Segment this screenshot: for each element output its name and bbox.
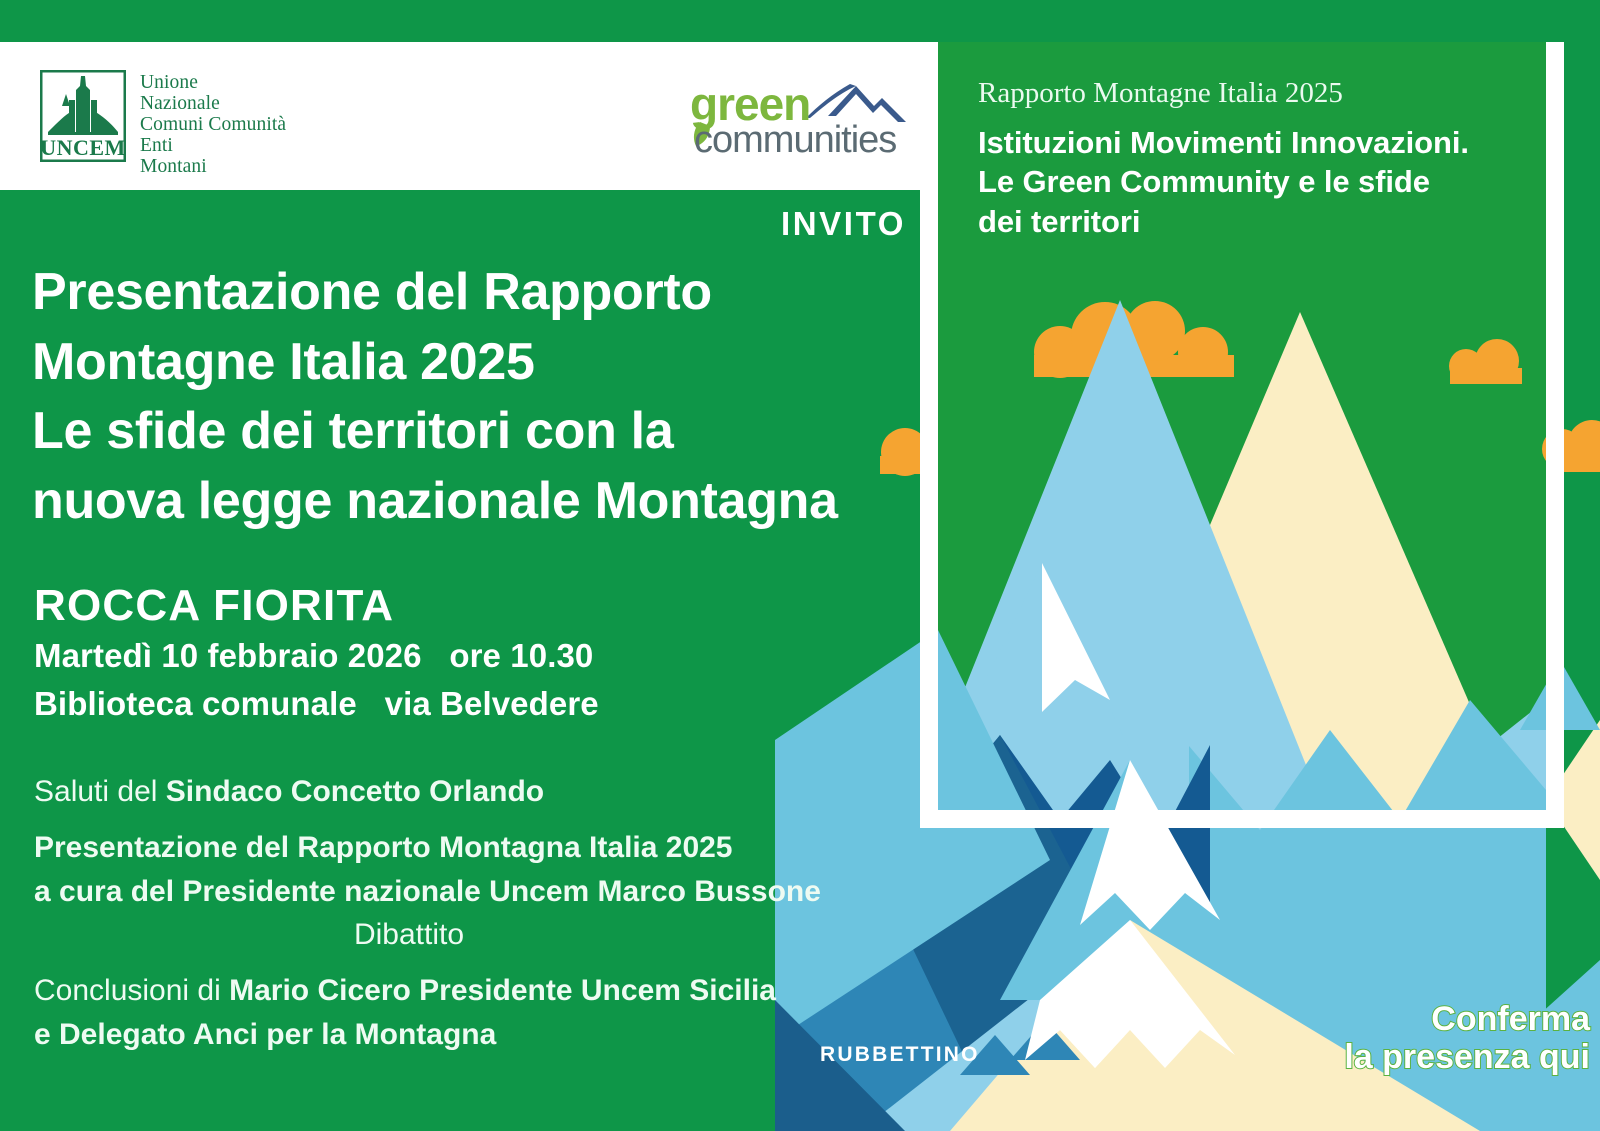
uncem-wordmark-text: Unione Nazionale Comuni Comunità Enti Mo… <box>140 70 286 177</box>
program-conclusions-line-2: e Delegato Anci per la Montagna <box>34 1013 914 1057</box>
headline-line-4: nuova legge nazionale Montagna <box>32 467 912 537</box>
headline-line-1: Presentazione del Rapporto <box>32 258 912 328</box>
venue-city: ROCCA FIORITA <box>34 580 914 632</box>
program-greetings: Saluti del Sindaco Concetto Orlando <box>34 770 914 814</box>
uncem-line-5: Montani <box>140 156 286 177</box>
green-communities-logo: green communities <box>660 72 920 164</box>
headline-line-2: Montagne Italia 2025 <box>32 328 912 398</box>
greetings-name: Sindaco Concetto Orlando <box>166 775 544 808</box>
greetings-prefix: Saluti del <box>34 775 166 808</box>
venue-address: Biblioteca comunale via Belvedere <box>34 680 914 728</box>
uncem-line-1: Unione <box>140 72 286 93</box>
confirm-attendance-cta[interactable]: Conferma la presenza qui <box>1290 1000 1590 1076</box>
svg-text:UNCEM: UNCEM <box>40 135 126 160</box>
book-title-line-1: Istituzioni Movimenti Innovazioni. <box>978 123 1538 163</box>
uncem-line-2: Nazionale <box>140 93 286 114</box>
program-presentation-line-2: a cura del Presidente nazionale Uncem Ma… <box>34 870 914 914</box>
cta-line-1: Conferma <box>1290 1000 1590 1038</box>
invito-label: INVITO <box>781 205 906 243</box>
uncem-line-4: Enti <box>140 135 286 156</box>
program-debate: Dibattito <box>34 913 914 957</box>
venue-datetime: Martedì 10 febbraio 2026 ore 10.30 <box>34 632 914 680</box>
uncem-logo: UNCEM Unione Nazionale Comuni Comunità E… <box>40 70 286 177</box>
publisher-logo: RUBBETTINO <box>820 1043 980 1067</box>
book-main-title: Istituzioni Movimenti Innovazioni. Le Gr… <box>978 123 1538 242</box>
conclusions-prefix: Conclusioni di <box>34 974 229 1007</box>
top-green-strip <box>0 0 1600 42</box>
book-title-line-3: dei territori <box>978 202 1538 242</box>
uncem-castle-mountain-icon: UNCEM <box>40 70 126 162</box>
headline-line-3: Le sfide dei territori con la <box>32 397 912 467</box>
book-series-title: Rapporto Montagne Italia 2025 <box>978 76 1538 111</box>
program-presentation-line-1: Presentazione del Rapporto Montagna Ital… <box>34 826 914 870</box>
program-block: Saluti del Sindaco Concetto Orlando Pres… <box>34 770 914 1057</box>
venue-block: ROCCA FIORITA Martedì 10 febbraio 2026 o… <box>34 580 914 728</box>
cta-line-2: la presenza qui <box>1290 1038 1590 1076</box>
page-title: Presentazione del Rapporto Montagne Ital… <box>32 258 912 537</box>
conclusions-name: Mario Cicero Presidente Uncem Sicilia <box>229 974 776 1007</box>
svg-text:communities: communities <box>694 119 896 161</box>
invitation-poster: UNCEM Unione Nazionale Comuni Comunità E… <box>0 0 1600 1131</box>
uncem-line-3: Comuni Comunità <box>140 114 286 135</box>
book-title-line-2: Le Green Community e le sfide <box>978 162 1538 202</box>
book-cover-title-block: Rapporto Montagne Italia 2025 Istituzion… <box>978 76 1538 242</box>
program-conclusions-line-1: Conclusioni di Mario Cicero Presidente U… <box>34 969 914 1013</box>
